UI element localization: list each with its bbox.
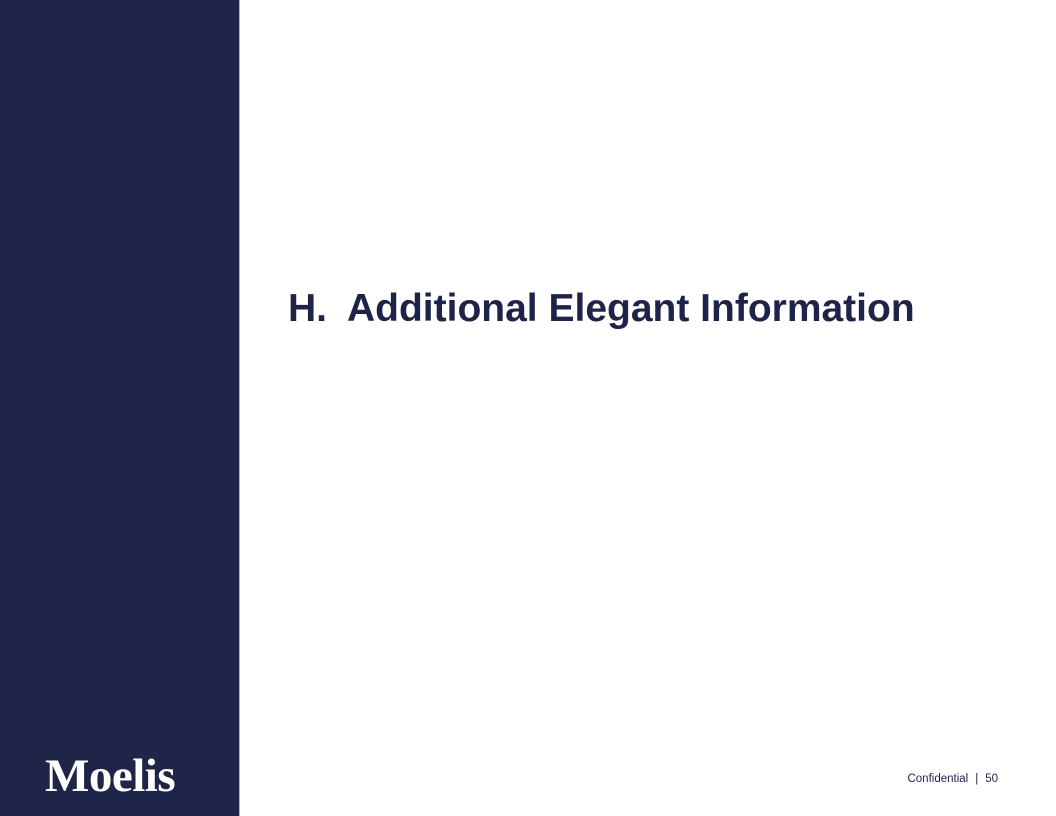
- confidentiality-label: Confidential: [907, 770, 968, 788]
- slide-canvas: Moelis H. Additional Elegant Information…: [0, 0, 1056, 816]
- page-number: 50: [985, 770, 998, 788]
- sidebar-band: [0, 0, 239, 816]
- section-letter: H.: [288, 286, 347, 332]
- moelis-logo: Moelis: [45, 750, 205, 802]
- footer-separator: |: [968, 770, 985, 788]
- section-title-text: Additional Elegant Information: [347, 286, 915, 332]
- section-title: H. Additional Elegant Information: [288, 286, 915, 332]
- footer: Confidential | 50: [907, 770, 998, 788]
- sidebar-divider: [239, 0, 240, 816]
